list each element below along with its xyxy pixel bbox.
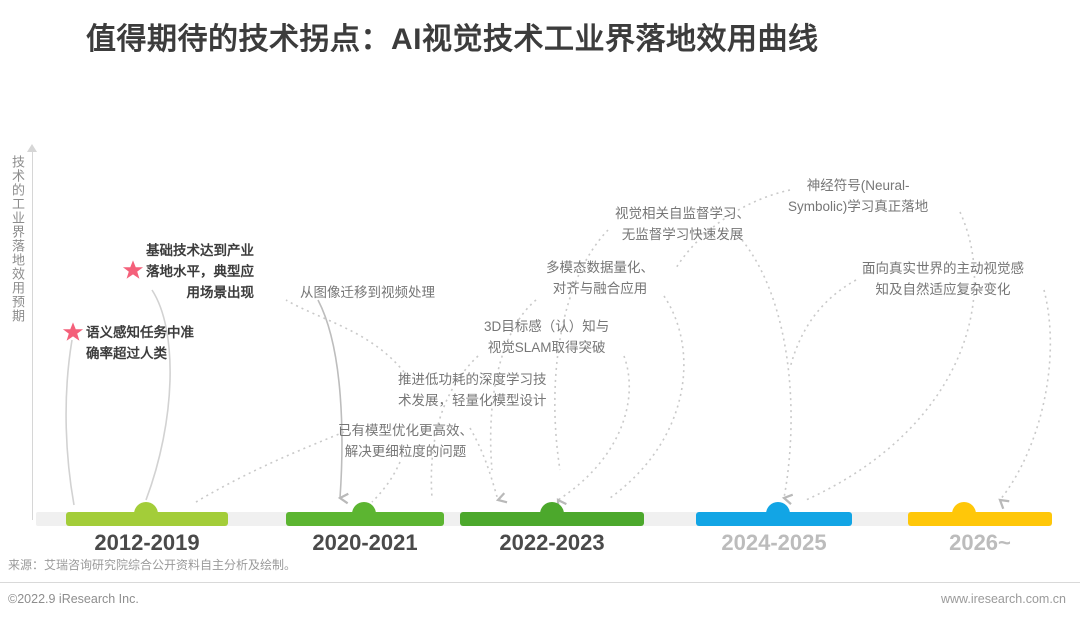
annotation-a9-line2: Symbolic)学习真正落地 — [788, 196, 928, 217]
annotation-a7: 多模态数据量化、 对齐与融合应用 — [546, 257, 654, 299]
copyright-text: ©2022.9 iResearch Inc. — [8, 592, 139, 606]
page-title: 值得期待的技术拐点：AI视觉技术工业界落地效用曲线 — [86, 14, 819, 58]
annotation-a10-line2: 知及自然适应复杂变化 — [862, 279, 1024, 300]
annotation-a2-line1: 基础技术达到产业 — [146, 240, 254, 261]
infographic-canvas: 值得期待的技术拐点：AI视觉技术工业界落地效用曲线 技术的工业界落地效用预期 — [0, 0, 1080, 618]
timeline-node-2026[interactable] — [952, 502, 976, 526]
annotation-a10-line1: 面向真实世界的主动视觉感 — [862, 258, 1024, 279]
annotation-a7-line1: 多模态数据量化、 — [546, 257, 654, 278]
timeline-node-2024-2025[interactable] — [766, 502, 790, 526]
period-label-2022-2023: 2022-2023 — [450, 530, 654, 556]
annotation-a6-line2: 视觉SLAM取得突破 — [484, 337, 609, 358]
annotation-a4-line1: 已有模型优化更高效、 — [338, 420, 473, 441]
annotation-a8-line2: 无监督学习快速发展 — [615, 224, 750, 245]
annotation-a5: 推进低功耗的深度学习技 术发展，轻量化模型设计 — [398, 369, 547, 411]
annotation-a2-line2: 落地水平，典型应 — [146, 261, 254, 282]
annotation-a4-line2: 解决更细粒度的问题 — [338, 441, 473, 462]
timeline-node-2020-2021[interactable] — [352, 502, 376, 526]
annotation-a1-line1: 语义感知任务中准 — [86, 322, 194, 343]
annotation-a1-line2: 确率超过人类 — [86, 343, 194, 364]
annotation-a3-line1: 从图像迁移到视频处理 — [300, 282, 435, 303]
footer-divider — [0, 582, 1080, 583]
period-label-2024-2025: 2024-2025 — [690, 530, 858, 556]
period-label-2020-2021: 2020-2021 — [286, 530, 444, 556]
timeline-node-2022-2023[interactable] — [540, 502, 564, 526]
annotation-a8: 视觉相关自监督学习、 无监督学习快速发展 — [615, 203, 750, 245]
star-icon-a2 — [122, 259, 144, 281]
y-axis-label: 技术的工业界落地效用预期 — [8, 155, 26, 323]
period-label-2012-2019: 2012-2019 — [66, 530, 228, 556]
source-note: 来源：艾瑞咨询研究院综合公开资料自主分析及绘制。 — [8, 556, 296, 573]
timeline-bar-2026[interactable] — [908, 512, 1052, 526]
annotation-a9-line1: 神经符号(Neural- — [788, 175, 928, 196]
timeline-node-2012-2019[interactable] — [134, 502, 158, 526]
annotation-a9: 神经符号(Neural- Symbolic)学习真正落地 — [788, 175, 928, 217]
y-axis-line — [32, 150, 33, 520]
annotation-a6-line1: 3D目标感（认）知与 — [484, 316, 609, 337]
annotation-a8-line1: 视觉相关自监督学习、 — [615, 203, 750, 224]
period-label-2026: 2026~ — [908, 530, 1052, 556]
star-icon-a1 — [62, 321, 84, 343]
annotation-a10: 面向真实世界的主动视觉感 知及自然适应复杂变化 — [862, 258, 1024, 300]
annotation-a1: 语义感知任务中准 确率超过人类 — [86, 322, 194, 364]
annotation-a6: 3D目标感（认）知与 视觉SLAM取得突破 — [484, 316, 609, 358]
annotation-a2-line3: 用场景出现 — [146, 282, 254, 303]
annotation-a3: 从图像迁移到视频处理 — [300, 282, 435, 303]
annotation-a7-line2: 对齐与融合应用 — [546, 278, 654, 299]
website-url: www.iresearch.com.cn — [941, 592, 1066, 606]
annotation-a4: 已有模型优化更高效、 解决更细粒度的问题 — [338, 420, 473, 462]
annotation-a2: 基础技术达到产业 落地水平，典型应 用场景出现 — [146, 240, 254, 303]
annotation-a5-line1: 推进低功耗的深度学习技 — [398, 369, 547, 390]
annotation-a5-line2: 术发展，轻量化模型设计 — [398, 390, 547, 411]
